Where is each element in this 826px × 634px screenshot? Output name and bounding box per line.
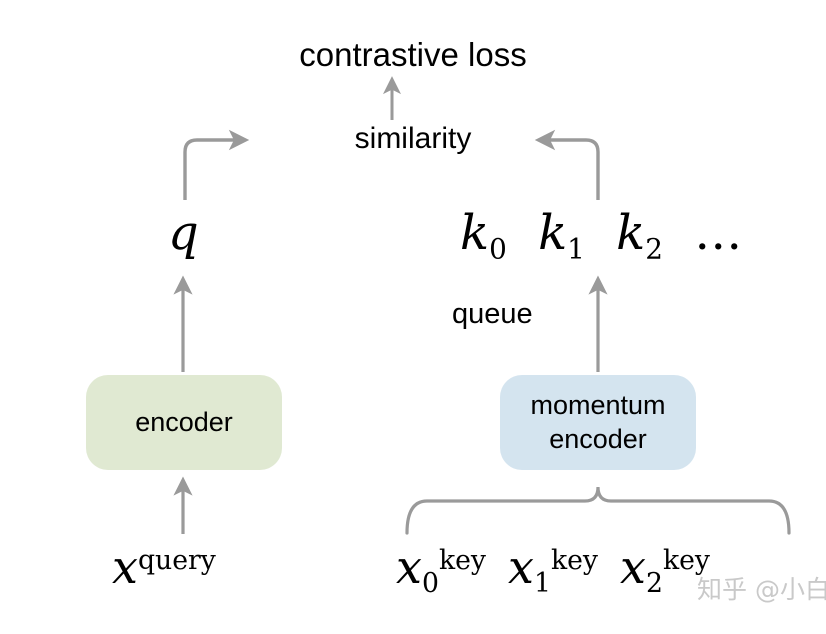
encoder-box[interactable]: encoder — [86, 375, 282, 470]
zhihu-watermark: 知乎 @小白 — [697, 570, 826, 606]
k0-base: k — [460, 205, 489, 261]
momentum-encoder-box-label: momentum encoder — [530, 389, 665, 457]
keys-ellipsis: … — [694, 205, 744, 261]
momentum-encoder-box[interactable]: momentum encoder — [500, 375, 696, 470]
key-input-symbol-0: x0key — [396, 540, 486, 594]
queue-label: queue — [452, 298, 533, 331]
x-key-0-sup: key — [439, 545, 486, 576]
k2-sub: 2 — [645, 232, 663, 265]
encoder-box-label: encoder — [135, 406, 233, 440]
key-symbol-0: k0 — [460, 205, 507, 261]
key-symbol-2: k2 — [616, 205, 663, 261]
k1-base: k — [538, 205, 567, 261]
contrastive-loss-label: contrastive loss — [0, 36, 826, 74]
k1-sub: 1 — [567, 232, 585, 265]
x-key-1-base: x — [508, 540, 534, 594]
key-representations-row: k0 k1 k2 … — [460, 205, 744, 261]
x-key-2-base: x — [620, 540, 646, 594]
query-input-symbol: xquery — [112, 540, 216, 594]
x-query-base: x — [112, 540, 138, 594]
key-input-symbol-1: x1key — [508, 540, 598, 594]
q-base: q — [168, 205, 199, 261]
momentum-encoder-line1: momentum — [530, 390, 665, 420]
moco-diagram: contrastive loss similarity queue q k0 k… — [0, 0, 826, 634]
similarity-label: similarity — [0, 122, 826, 157]
x-key-1-sup: key — [551, 545, 598, 576]
query-representation-symbol: q — [168, 205, 199, 261]
x-key-0-sub: 0 — [422, 568, 439, 599]
key-symbol-1: k1 — [538, 205, 585, 261]
x-query-sup: query — [138, 545, 216, 576]
momentum-encoder-line2: encoder — [549, 424, 647, 454]
x-key-0-base: x — [396, 540, 422, 594]
k2-base: k — [616, 205, 645, 261]
connector-layer — [0, 0, 826, 634]
x-key-1-sub: 1 — [534, 568, 551, 599]
x-key-2-sub: 2 — [646, 568, 663, 599]
brace-key-inputs — [407, 487, 789, 533]
k0-sub: 0 — [489, 232, 507, 265]
